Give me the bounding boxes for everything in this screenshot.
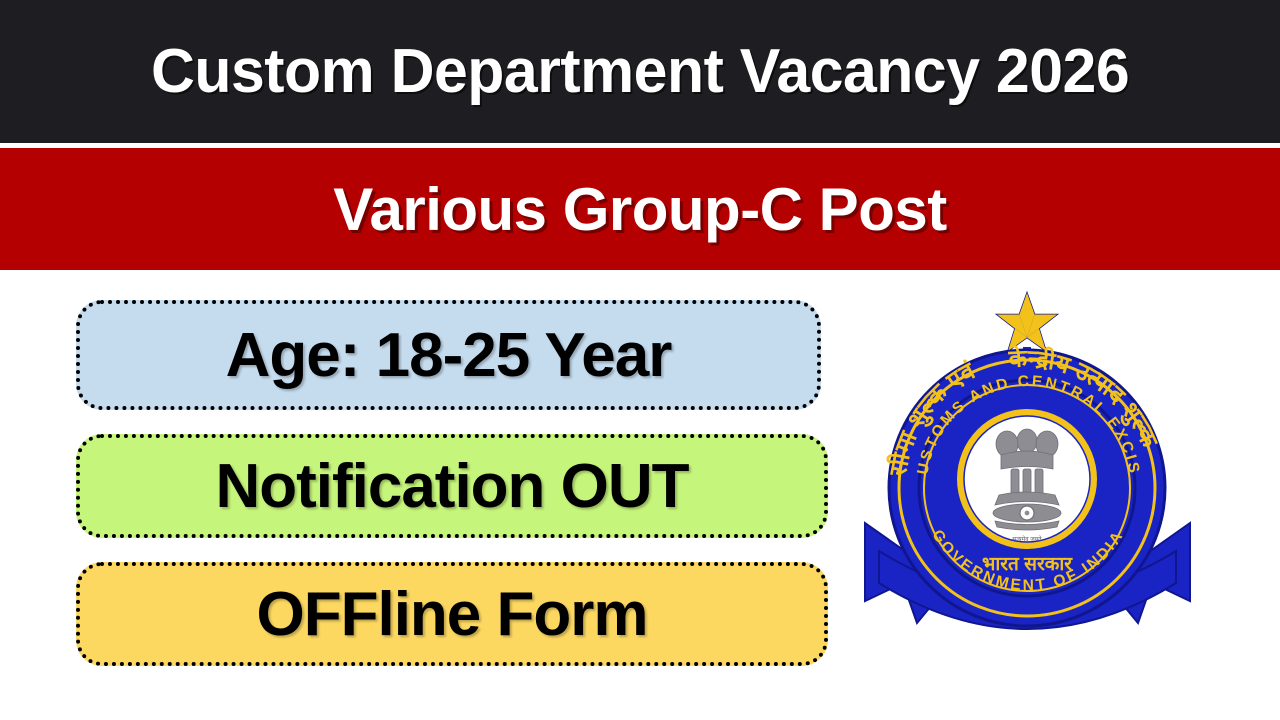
poster-canvas: Custom Department Vacancy 2026 Various G… <box>0 0 1280 720</box>
customs-emblem-svg: देशसेवार्थ करसंचय स <box>855 283 1200 658</box>
info-box-offline-form: OFFline Form <box>76 562 828 666</box>
info-box-offline-form-label: OFFline Form <box>257 579 648 650</box>
info-box-notification-label: Notification OUT <box>215 451 688 522</box>
customs-emblem: देशसेवार्थ करसंचय स <box>855 283 1200 658</box>
ashoka-motto-text: सत्यमेव जयते <box>1012 535 1042 543</box>
page-title: Custom Department Vacancy 2026 <box>151 36 1129 107</box>
info-box-age-label: Age: 18-25 Year <box>226 320 672 391</box>
info-box-list: Age: 18-25 Year Notification OUT OFFline… <box>76 300 831 690</box>
subtitle-banner: Various Group-C Post <box>0 148 1280 270</box>
info-box-age: Age: 18-25 Year <box>76 300 821 410</box>
emblem-center-caption: भारत सरकार <box>982 554 1073 575</box>
header-bar: Custom Department Vacancy 2026 <box>0 0 1280 143</box>
info-box-notification: Notification OUT <box>76 434 828 538</box>
subtitle-text: Various Group-C Post <box>333 175 946 244</box>
